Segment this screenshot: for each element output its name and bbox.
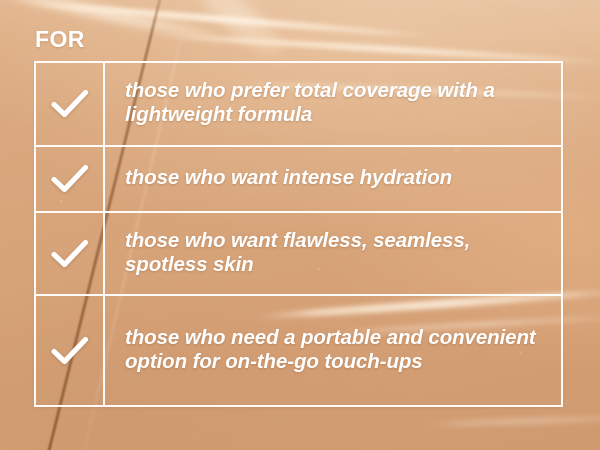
benefit-text: those who prefer total coverage with a l… [125,79,547,127]
benefit-text: those who need a portable and convenient… [125,326,547,374]
table-row: those who want intense hydration [36,147,561,213]
benefit-text: those who want intense hydration [125,166,452,190]
benefits-table: those who prefer total coverage with a l… [34,61,563,407]
checkmark-cell [36,63,105,145]
table-row: those who need a portable and convenient… [36,296,561,407]
checkmark-cell [36,296,105,405]
checkmark-icon [51,89,89,119]
checkmark-cell [36,147,105,211]
checkmark-icon [51,336,89,366]
table-row: those who want flawless, seamless, spotl… [36,213,561,296]
checkmark-cell [36,213,105,294]
benefit-text: those who want flawless, seamless, spotl… [125,229,547,277]
table-row: those who prefer total coverage with a l… [36,63,561,147]
benefit-text-cell: those who want intense hydration [105,147,561,211]
checkmark-icon [51,164,89,194]
poster-canvas: FOR those who prefer total coverage with… [0,0,600,450]
benefit-text-cell: those who want flawless, seamless, spotl… [105,213,561,294]
poster-content: FOR those who prefer total coverage with… [0,0,600,450]
benefit-text-cell: those who need a portable and convenient… [105,296,561,405]
benefit-text-cell: those who prefer total coverage with a l… [105,63,561,145]
checkmark-icon [51,239,89,269]
page-title: FOR [35,28,85,51]
